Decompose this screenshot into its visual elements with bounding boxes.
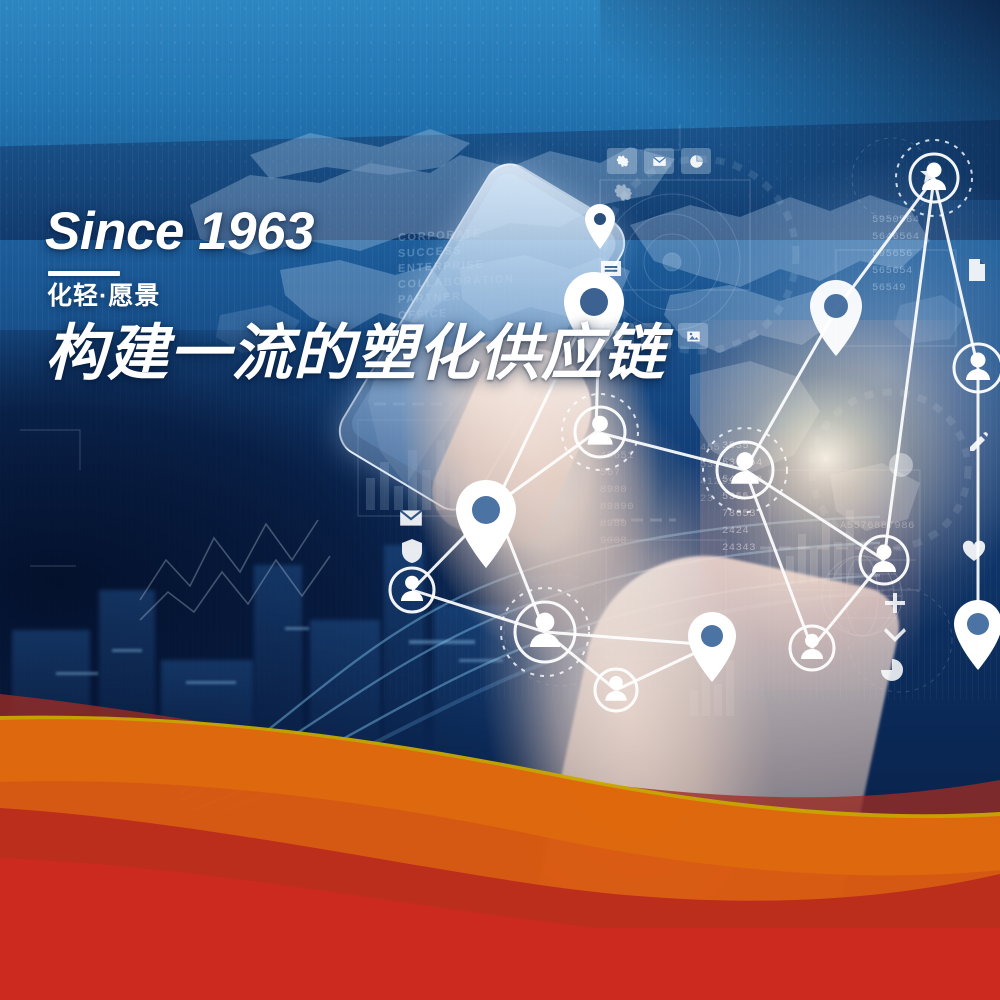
eyebrow-since: Since 1963 — [45, 205, 665, 258]
tile-image-icon — [678, 323, 708, 349]
divider-rule — [48, 271, 120, 276]
banner-stage: CORPORATE SUCCESS ENTERPRISE COLLABORATI… — [0, 0, 1000, 1000]
page-title: 构建一流的塑化供应链 — [45, 321, 665, 386]
tile-gear-icon — [607, 148, 637, 174]
wave-red-fill — [0, 928, 1000, 1000]
pencil-icon — [968, 430, 990, 457]
subtitle: 化轻·愿景 — [47, 284, 665, 309]
heart-icon — [962, 540, 986, 567]
globe-icon — [888, 452, 914, 483]
mail-icon — [398, 505, 424, 536]
chevron-down-icon — [884, 626, 906, 647]
shield-icon — [400, 538, 424, 569]
tile-pie-chart-icon — [681, 148, 711, 174]
plus-icon — [884, 592, 906, 619]
document-icon — [966, 258, 988, 287]
headline-block: Since 1963 化轻·愿景 构建一流的塑化供应链 — [45, 205, 665, 386]
bottom-wave-decoration — [0, 670, 1000, 1000]
tile-mail-icon — [644, 148, 674, 174]
star-icon — [918, 162, 942, 191]
